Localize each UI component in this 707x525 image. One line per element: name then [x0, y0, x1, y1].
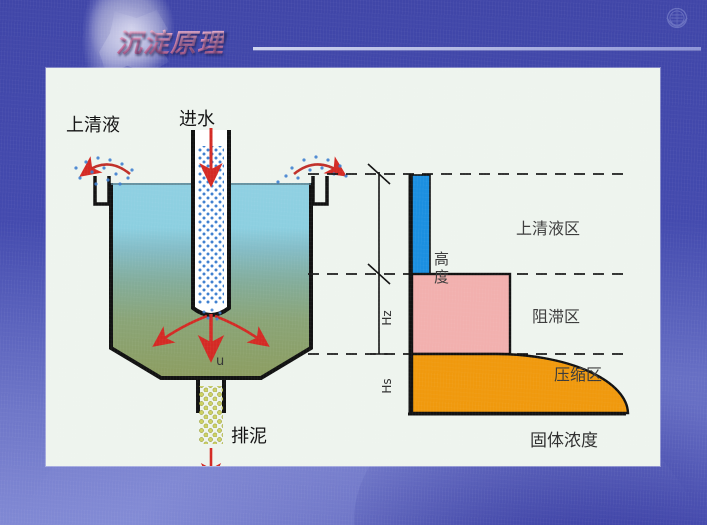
zone-hindered-label: 阻滞区	[532, 307, 580, 326]
title-underline-rule	[253, 47, 701, 50]
slide-canvas: 沉淀原理	[0, 0, 707, 525]
label-influent: 进水	[179, 109, 215, 130]
height-hs-label: Hs	[380, 378, 394, 393]
weir-launder-right	[313, 176, 327, 204]
chart-y-axis-label-char1: 高	[434, 250, 449, 268]
label-sludge-discharge: 排泥	[231, 426, 267, 447]
zone-compression-label: 压缩区	[554, 365, 602, 384]
zone-supernatant-label: 上清液区	[516, 219, 580, 238]
content-panel: 高 度 Hz Hs 上清液区 阻滞区 压缩区 固体浓度 上清液 进水 u 排泥	[46, 68, 660, 466]
page-title: 沉淀原理	[116, 23, 224, 60]
sludge-particle-stream	[199, 386, 223, 444]
height-hz-label: Hz	[380, 310, 394, 325]
sedimentation-clarifier-diagram: 高 度 Hz Hs 上清液区 阻滞区 压缩区 固体浓度 上清液 进水 u 排泥	[46, 68, 660, 466]
overflow-arrow-right	[294, 164, 340, 174]
label-supernatant: 上清液	[66, 115, 120, 136]
emblem-logo-icon	[661, 5, 693, 37]
zone-supernatant-bar	[412, 175, 430, 274]
zone-hindered-bar	[412, 274, 510, 354]
chart-x-axis-label: 固体浓度	[530, 431, 598, 451]
label-velocity-u: u	[216, 354, 224, 369]
chart-y-axis-label-char2: 度	[434, 268, 449, 286]
